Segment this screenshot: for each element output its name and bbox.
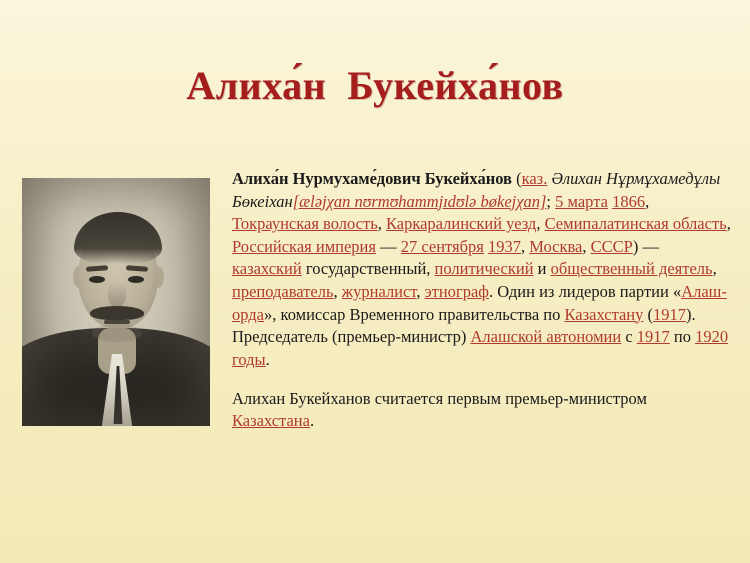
text-comma-5: , [521, 237, 529, 256]
link-public-figure[interactable]: общественный деятель [551, 259, 713, 278]
link-death-place[interactable]: Москва [529, 237, 582, 256]
link-journalist[interactable]: журналист [342, 282, 417, 301]
text-and: и [534, 259, 551, 278]
slide: Алиха́н Букейха́нов Алиха́н Нурмухаме́до… [0, 0, 750, 563]
link-death-day[interactable]: 27 сентября [401, 237, 484, 256]
text-open-paren-2: ( [643, 305, 653, 324]
link-kazakh-adjective[interactable]: казахский [232, 259, 302, 278]
text-comma-2: , [378, 214, 386, 233]
text-close-paren: ) — [633, 237, 659, 256]
link-kazakhstan-genitive[interactable]: Казахстана [232, 411, 310, 430]
link-uezd[interactable]: Каркаралинский уезд [386, 214, 536, 233]
link-russian-empire[interactable]: Российская империя [232, 237, 376, 256]
text-comma-1: , [645, 192, 649, 211]
link-year-1917[interactable]: 1917 [653, 305, 686, 324]
portrait-image [22, 178, 210, 426]
text-comma-7: , [713, 259, 717, 278]
text-paragraph2-start: Алихан Букейханов считается первым премь… [232, 389, 647, 408]
link-political[interactable]: политический [435, 259, 534, 278]
text-comma-8: , [334, 282, 342, 301]
link-birth-day[interactable]: 5 марта [555, 192, 608, 211]
link-ethnographer[interactable]: этнограф [425, 282, 489, 301]
text-from: с [621, 327, 637, 346]
link-from-year[interactable]: 1917 [637, 327, 670, 346]
text-comma-4: , [727, 214, 731, 233]
text-dash-1: — [376, 237, 401, 256]
link-ussr[interactable]: СССР [591, 237, 633, 256]
text-leader-of-party: . Один из лидеров партии « [489, 282, 681, 301]
portrait-canvas [22, 178, 210, 426]
text-comma-3: , [536, 214, 544, 233]
article-body: Алиха́н Нурмухаме́дович Букейха́нов (каз… [232, 168, 732, 450]
link-birth-year[interactable]: 1866 [612, 192, 645, 211]
link-alash-autonomy[interactable]: Алашской автономии [470, 327, 621, 346]
text-statesman: государственный, [302, 259, 435, 278]
text-commissar: », комиссар Временного правительства по [264, 305, 565, 324]
text-open-paren: ( [512, 169, 522, 188]
link-ipa-transcription[interactable]: [æləjχɑn nʊrmʊhɑmmjɪdʊlə bøkejχɑn] [293, 192, 547, 211]
text-semicolon: ; [546, 192, 555, 211]
article-paragraph-1: Алиха́н Нурмухаме́дович Букейха́нов (каз… [232, 168, 732, 371]
link-kazakh-language[interactable]: каз. [522, 169, 548, 188]
link-oblast[interactable]: Семипалатинская область [545, 214, 727, 233]
portrait-vignette [22, 178, 210, 426]
text-period-2: . [310, 411, 314, 430]
text-comma-6: , [582, 237, 590, 256]
link-birth-place[interactable]: Токраунская волость [232, 214, 378, 233]
page-title: Алиха́н Букейха́нов [0, 62, 750, 109]
link-teacher[interactable]: преподаватель [232, 282, 334, 301]
text-to: по [670, 327, 695, 346]
text-comma-9: , [416, 282, 424, 301]
article-paragraph-2: Алихан Букейханов считается первым премь… [232, 388, 732, 433]
link-kazakhstan[interactable]: Казахстану [565, 305, 644, 324]
article-lead-name: Алиха́н Нурмухаме́дович Букейха́нов [232, 169, 512, 188]
link-death-year[interactable]: 1937 [488, 237, 521, 256]
text-period-1: . [266, 350, 270, 369]
